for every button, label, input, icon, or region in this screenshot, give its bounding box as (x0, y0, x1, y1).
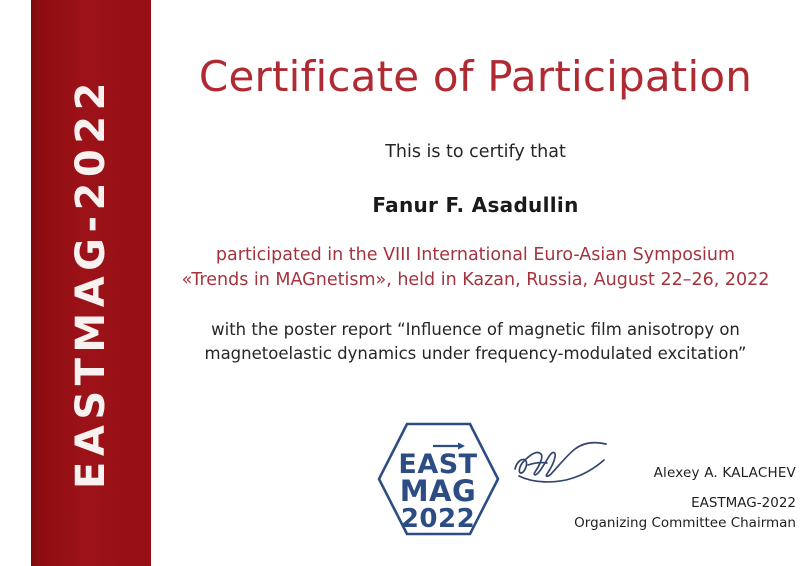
logo-line-3: 2022 (401, 504, 475, 534)
certificate-footer: EAST MAG 2022 Alexey A. KALA (151, 415, 800, 555)
logo-line-2: MAG (400, 474, 477, 508)
signature-block: Alexey A. KALACHEV EASTMAG-2022 Organizi… (511, 427, 796, 537)
participation-statement: participated in the VIII International E… (151, 243, 800, 294)
side-band-title: EASTMAG-2022 (71, 77, 111, 489)
certify-statement: This is to certify that (151, 142, 800, 163)
chairman-role: Organizing Committee Chairman (511, 515, 796, 531)
certificate-page: EASTMAG-2022 Certificate of Participatio… (0, 0, 800, 566)
page-title: Certificate of Participation (151, 54, 800, 100)
certificate-content: Certificate of Participation This is to … (151, 0, 800, 566)
side-band: EASTMAG-2022 (31, 0, 151, 566)
eastmag-logo-icon: EAST MAG 2022 (376, 420, 501, 538)
report-line-2: magnetoelastic dynamics under frequency-… (151, 342, 800, 366)
report-line-1: with the poster report “Influence of mag… (151, 318, 800, 342)
participation-line-1: participated in the VIII International E… (151, 243, 800, 268)
recipient-name: Fanur F. Asadullin (151, 193, 800, 217)
signature-icon (511, 435, 626, 493)
report-statement: with the poster report “Influence of mag… (151, 318, 800, 366)
organization-name: EASTMAG-2022 (511, 495, 796, 511)
chairman-name: Alexey A. KALACHEV (511, 465, 796, 481)
participation-line-2: «Trends in MAGnetism», held in Kazan, Ru… (151, 268, 800, 293)
